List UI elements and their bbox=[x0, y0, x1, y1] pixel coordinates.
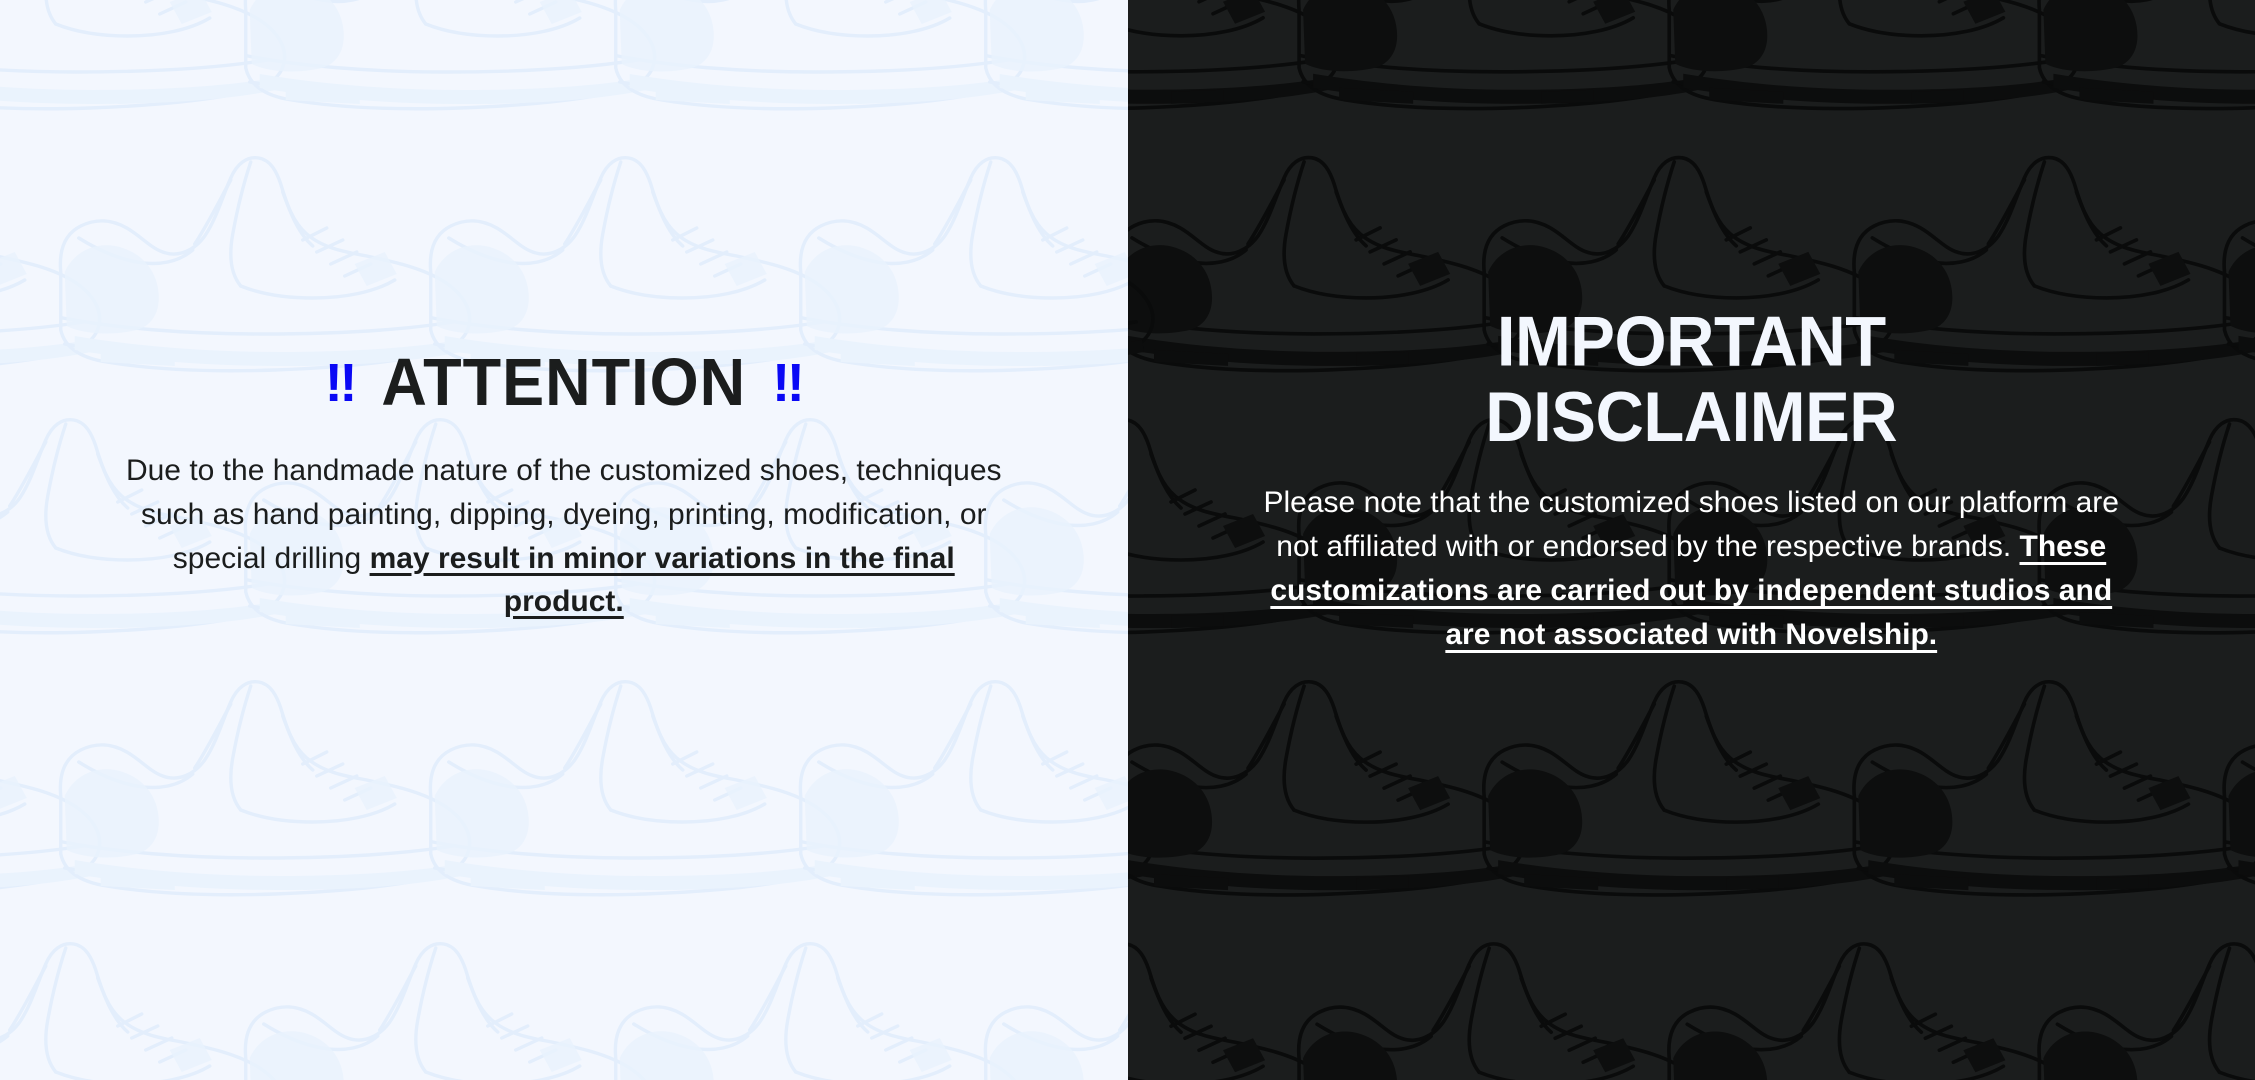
attention-panel: ‼ ATTENTION ‼ Due to the handmade nature… bbox=[0, 0, 1128, 1080]
attention-content: ‼ ATTENTION ‼ Due to the handmade nature… bbox=[0, 352, 1128, 624]
attention-body-emphasis: may result in minor variations in the fi… bbox=[370, 542, 955, 619]
disclaimer-content: IMPORTANT DISCLAIMER Please note that th… bbox=[1128, 308, 2255, 657]
disclaimer-body-normal: Please note that the customized shoes li… bbox=[1264, 486, 2119, 563]
attention-heading-text: ATTENTION bbox=[381, 350, 746, 417]
attention-heading: ‼ ATTENTION ‼ bbox=[110, 352, 1018, 415]
disclaimer-heading-line2: DISCLAIMER bbox=[1258, 380, 2126, 455]
disclaimer-heading: IMPORTANT DISCLAIMER bbox=[1258, 304, 2126, 455]
double-exclamation-left-icon: ‼ bbox=[325, 356, 356, 410]
disclaimer-heading-line1: IMPORTANT bbox=[1258, 304, 2126, 379]
attention-body: Due to the handmade nature of the custom… bbox=[110, 449, 1018, 624]
disclaimer-banner: ‼ ATTENTION ‼ Due to the handmade nature… bbox=[0, 0, 2255, 1080]
double-exclamation-right-icon: ‼ bbox=[772, 356, 803, 410]
disclaimer-panel: IMPORTANT DISCLAIMER Please note that th… bbox=[1128, 0, 2255, 1080]
disclaimer-body: Please note that the customized shoes li… bbox=[1258, 481, 2126, 656]
